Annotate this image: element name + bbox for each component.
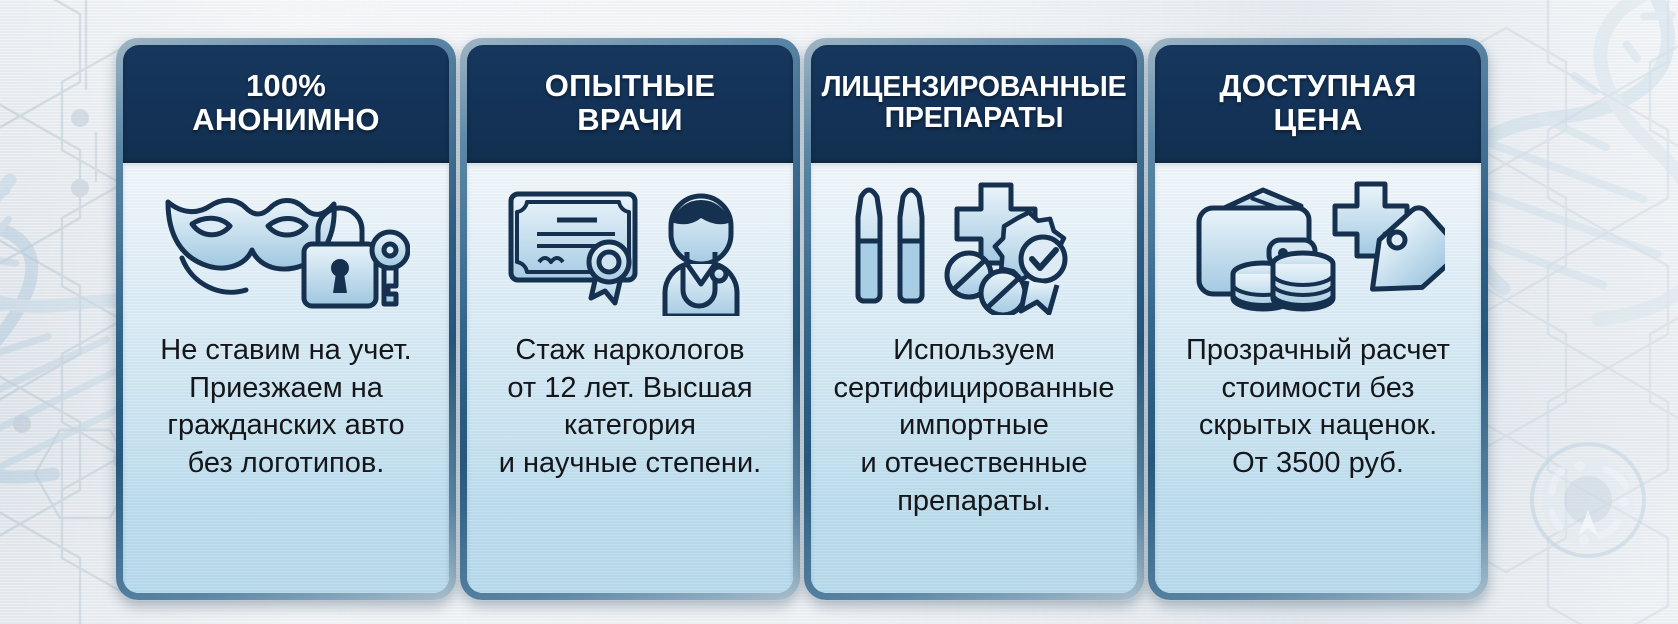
card-description: Используем сертифицированные импортные и… [824, 332, 1125, 520]
benefit-card-experienced-doctors[interactable]: ОПЫТНЫЕ ВРАЧИ [460, 38, 800, 600]
card-icons-licensed-drugs [811, 163, 1137, 328]
card-title: ЛИЦЕНЗИРОВАННЫЕ ПРЕПАРАТЫ [822, 72, 1127, 135]
card-description: Не ставим на учет. Приезжаем на гражданс… [150, 332, 421, 483]
doctor-icon [665, 196, 737, 316]
benefit-card-anonymity[interactable]: 100% АНОНИМНО [116, 38, 456, 600]
card-header-anonymity: 100% АНОНИМНО [123, 45, 449, 163]
ampoule-icon [858, 190, 880, 301]
benefit-card-affordable-price[interactable]: ДОСТУПНАЯ ЦЕНА [1148, 38, 1488, 600]
card-description: Стаж наркологов от 12 лет. Высшая катего… [489, 332, 771, 483]
card-header-licensed-drugs: ЛИЦЕНЗИРОВАННЫЕ ПРЕПАРАТЫ [811, 45, 1137, 163]
card-header-affordable-price: ДОСТУПНАЯ ЦЕНА [1155, 45, 1481, 163]
card-title: ДОСТУПНАЯ ЦЕНА [1219, 69, 1416, 137]
award-ribbon-icon [589, 242, 629, 303]
card-title: ОПЫТНЫЕ ВРАЧИ [545, 69, 716, 137]
card-header-experienced-doctors: ОПЫТНЫЕ ВРАЧИ [467, 45, 793, 163]
benefit-card-licensed-drugs[interactable]: ЛИЦЕНЗИРОВАННЫЕ ПРЕПАРАТЫ [804, 38, 1144, 600]
card-description: Прозрачный расчет стоимости без скрытых … [1176, 332, 1460, 483]
card-title: 100% АНОНИМНО [192, 69, 379, 137]
ampoule-icon [900, 190, 922, 301]
card-icons-affordable-price [1155, 163, 1481, 328]
card-icons-anonymity [123, 163, 449, 328]
card-icons-experienced-doctors [467, 163, 793, 328]
benefits-card-list: 100% АНОНИМНО [0, 0, 1678, 624]
